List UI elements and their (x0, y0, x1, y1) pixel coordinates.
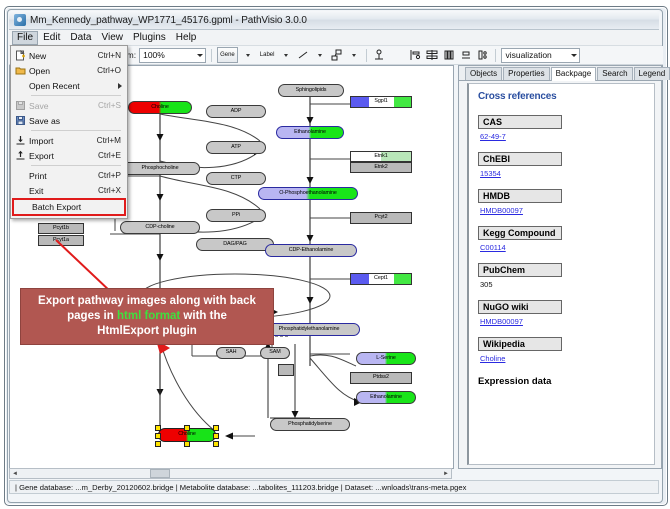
selection-handle-mr[interactable] (213, 433, 219, 439)
file-menu-separator-1 (31, 95, 121, 96)
xref-chebi-value[interactable]: 15354 (478, 166, 645, 187)
selection-handle-bc[interactable] (184, 441, 190, 447)
toolbar-divider (211, 49, 212, 62)
visualization-combo[interactable]: visualization (501, 48, 580, 63)
tab-legend[interactable]: Legend (634, 67, 670, 80)
file-menu-batch-export-label: Batch Export (32, 202, 124, 212)
gene-pcyt2[interactable]: Pcyt2 (350, 212, 412, 224)
scroll-right-arrow-icon[interactable]: ► (441, 469, 451, 478)
file-menu-separator-3 (31, 165, 121, 166)
callout-line-2b: with the (180, 310, 227, 322)
import-icon (11, 133, 29, 148)
xref-cas-label: CAS (478, 115, 562, 129)
node-phosphocholine[interactable]: Phosphocholine (120, 162, 200, 175)
print-spacer-icon (11, 168, 29, 183)
callout-line-3: HtmlExport plugin (97, 324, 197, 339)
toolbar-divider-3 (495, 49, 496, 62)
distribute-icon[interactable] (442, 48, 456, 62)
side-panel-tabs: Objects Properties Backpage Search Legen… (459, 66, 661, 81)
shape-tool-icon[interactable] (330, 48, 344, 62)
gene-pcyt1a[interactable]: Pcyt1a (38, 235, 84, 246)
xref-pubchem: PubChem 305 (478, 263, 645, 298)
file-menu-separator-2 (31, 130, 121, 131)
file-menu-new[interactable]: New Ctrl+N (11, 48, 127, 63)
cross-references-heading: Cross references (478, 91, 645, 102)
file-menu-print-accel: Ctrl+P (98, 171, 127, 180)
menu-data[interactable]: Data (65, 31, 96, 45)
pathway-anchor-box[interactable] (278, 364, 294, 376)
save-disk-icon (11, 98, 29, 113)
gene-sgpl1[interactable]: Sgpl1 (350, 96, 412, 108)
file-menu-save-label: Save (29, 101, 98, 111)
group-icon[interactable] (476, 48, 490, 62)
xref-pubchem-value: 305 (478, 277, 645, 298)
export-icon (11, 148, 29, 163)
xref-nugo: NuGO wiki HMDB00097 (478, 300, 645, 335)
gene-pcyt1b[interactable]: Pcyt1b (38, 223, 84, 234)
file-menu-print-label: Print (29, 171, 98, 181)
tab-objects[interactable]: Objects (465, 67, 502, 80)
backpage-content[interactable]: Cross references CAS 62-49-7 ChEBI 15354… (467, 83, 655, 465)
file-menu-open[interactable]: Open Ctrl+O (11, 63, 127, 78)
node-cdp-ethanolamine[interactable]: CDP-Ethanolamine (265, 244, 357, 257)
file-menu-save-as-label: Save as (29, 116, 121, 126)
annotation-callout: Export pathway images along with back pa… (20, 288, 274, 345)
batch-export-spacer-icon (14, 200, 32, 215)
node-phosphatidylserine[interactable]: Phosphatidylserine (270, 418, 350, 431)
title-bar: Mm_Kennedy_pathway_WP1771_45176.gpml - P… (9, 11, 659, 30)
selection-handle-tr[interactable] (213, 425, 219, 431)
line-tool-icon[interactable] (296, 48, 310, 62)
xref-nugo-label: NuGO wiki (478, 300, 562, 314)
file-menu-batch-export[interactable]: Batch Export (14, 200, 124, 214)
pathvisio-icon (14, 14, 26, 26)
scrollbar-thumb[interactable] (150, 469, 170, 478)
node-cdp-choline[interactable]: CDP-choline (120, 221, 200, 234)
file-menu-print[interactable]: Print Ctrl+P (11, 168, 127, 183)
tab-search[interactable]: Search (597, 67, 632, 80)
exit-spacer-icon (11, 183, 29, 198)
node-atp[interactable]: ATP (206, 141, 266, 154)
gene-etnk1[interactable]: Etnk1 (350, 151, 412, 162)
node-l-serine[interactable]: L-Serine (356, 352, 416, 365)
stack-icon[interactable] (459, 48, 473, 62)
window-title: Mm_Kennedy_pathway_WP1771_45176.gpml - P… (30, 15, 307, 26)
menu-help[interactable]: Help (171, 31, 202, 45)
chevron-down-icon (197, 54, 203, 57)
label-tool-button[interactable]: Label (258, 48, 277, 62)
save-as-icon (11, 113, 29, 128)
node-o-phosphoethanolamine[interactable]: O-Phosphoethanolamine (258, 187, 358, 200)
label-dropdown-icon[interactable] (279, 48, 293, 62)
menu-edit[interactable]: Edit (38, 31, 65, 45)
node-ctp[interactable]: CTP (206, 172, 266, 185)
zoom-value: 100% (143, 50, 165, 60)
file-menu-save-as[interactable]: Save as (11, 113, 127, 128)
node-choline[interactable]: Choline (128, 101, 192, 114)
side-panel: Objects Properties Backpage Search Legen… (458, 65, 662, 469)
status-bar-text: | Gene database: ...m_Derby_20120602.bri… (10, 483, 466, 492)
gene-cept1[interactable]: Cept1 (350, 273, 412, 285)
shape-dropdown-icon[interactable] (347, 48, 361, 62)
file-menu-popup[interactable]: New Ctrl+N Open Ctrl+O Open Recent Save … (10, 45, 128, 219)
file-menu-save: Save Ctrl+S (11, 98, 127, 113)
file-menu-import-accel: Ctrl+M (97, 136, 127, 145)
application-window: Mm_Kennedy_pathway_WP1771_45176.gpml - P… (0, 0, 670, 509)
node-adp[interactable]: ADP (206, 105, 266, 118)
open-folder-icon (11, 63, 29, 78)
selection-handle-tl[interactable] (155, 425, 161, 431)
file-menu-open-accel: Ctrl+O (97, 66, 127, 75)
gene-dropdown-icon[interactable] (241, 48, 255, 62)
xref-kegg: Kegg Compound C00114 (478, 226, 645, 261)
file-menu-export[interactable]: Export Ctrl+E (11, 148, 127, 163)
selection-handle-ml[interactable] (155, 433, 161, 439)
file-menu-open-label: Open (29, 66, 97, 76)
chevron-down-icon-2 (571, 54, 577, 57)
expression-data-heading: Expression data (478, 376, 645, 387)
toolbar-divider-2 (366, 49, 367, 62)
align-left-icon[interactable] (408, 48, 422, 62)
line-dropdown-icon[interactable] (313, 48, 327, 62)
file-menu-new-accel: Ctrl+N (98, 51, 127, 60)
xref-nugo-value[interactable]: HMDB00097 (478, 314, 645, 335)
xref-wikipedia: Wikipedia Choline (478, 337, 645, 372)
xref-kegg-value[interactable]: C00114 (478, 240, 645, 261)
menu-view[interactable]: View (96, 31, 128, 45)
file-menu-save-accel: Ctrl+S (98, 101, 127, 110)
xref-hmdb-label: HMDB (478, 189, 562, 203)
file-menu-exit-label: Exit (29, 186, 98, 196)
xref-kegg-label: Kegg Compound (478, 226, 562, 240)
selection-handle-bl[interactable] (155, 441, 161, 447)
gene-tool-button[interactable]: Gene (217, 47, 238, 63)
gene-ptdss2[interactable]: Ptdss2 (350, 372, 412, 384)
tab-properties[interactable]: Properties (503, 67, 549, 80)
menu-bar: File Edit Data View Plugins Help (9, 30, 662, 46)
file-menu-open-recent-label: Open Recent (29, 81, 118, 91)
file-menu-new-label: New (29, 51, 98, 61)
zoom-combo[interactable]: 100% (139, 48, 206, 63)
node-ethanolamine[interactable]: Ethanolamine (276, 126, 344, 139)
node-sah[interactable]: SAH (216, 347, 246, 359)
xref-pubchem-label: PubChem (478, 263, 562, 277)
xref-wikipedia-label: Wikipedia (478, 337, 562, 351)
menu-file[interactable]: File (12, 31, 38, 45)
file-menu-import[interactable]: Import Ctrl+M (11, 133, 127, 148)
file-menu-batch-export-highlight: Batch Export (12, 198, 126, 216)
node-sphingolipids[interactable]: Sphingolipids (278, 84, 344, 97)
status-bar: | Gene database: ...m_Derby_20120602.bri… (9, 480, 659, 494)
selection-handle-tc[interactable] (184, 425, 190, 431)
file-menu-open-recent[interactable]: Open Recent (11, 78, 127, 93)
file-menu-export-accel: Ctrl+E (98, 151, 127, 160)
callout-line-2a: pages in (67, 310, 117, 322)
xref-chebi-label: ChEBI (478, 152, 562, 166)
gene-etnk2[interactable]: Etnk2 (350, 162, 412, 173)
xref-chebi: ChEBI 15354 (478, 152, 645, 187)
canvas-horizontal-scrollbar[interactable]: ◄ ► (9, 468, 452, 479)
selection-handle-br[interactable] (213, 441, 219, 447)
new-file-icon (11, 48, 29, 63)
file-menu-exit-accel: Ctrl+X (98, 186, 127, 195)
file-menu-exit[interactable]: Exit Ctrl+X (11, 183, 127, 198)
submenu-arrow-icon (118, 83, 122, 89)
file-menu-export-label: Export (29, 151, 98, 161)
xref-hmdb: HMDB HMDB00097 (478, 189, 645, 224)
callout-line-1: Export pathway images along with back (38, 294, 256, 309)
xref-wikipedia-value[interactable]: Choline (478, 351, 645, 372)
callout-highlight: html format (117, 310, 180, 322)
file-menu-import-label: Import (29, 136, 97, 146)
xref-cas-value[interactable]: 62-49-7 (478, 129, 645, 150)
scroll-left-arrow-icon[interactable]: ◄ (10, 469, 20, 478)
menu-plugins[interactable]: Plugins (128, 31, 171, 45)
xref-cas: CAS 62-49-7 (478, 115, 645, 150)
tab-backpage[interactable]: Backpage (551, 67, 597, 81)
anchor-icon[interactable] (372, 48, 386, 62)
open-recent-spacer-icon (11, 78, 29, 93)
visualization-value: visualization (505, 50, 551, 60)
xref-hmdb-value[interactable]: HMDB00097 (478, 203, 645, 224)
callout-line-2: pages in html format with the (67, 309, 227, 324)
node-sam[interactable]: SAM (260, 347, 290, 359)
node-ethanolamine-2[interactable]: Ethanolamine (356, 391, 416, 404)
align-center-icon[interactable] (425, 48, 439, 62)
node-ppi[interactable]: PPi (206, 209, 266, 222)
node-dag-pag[interactable]: DAG/PAG (196, 238, 274, 251)
